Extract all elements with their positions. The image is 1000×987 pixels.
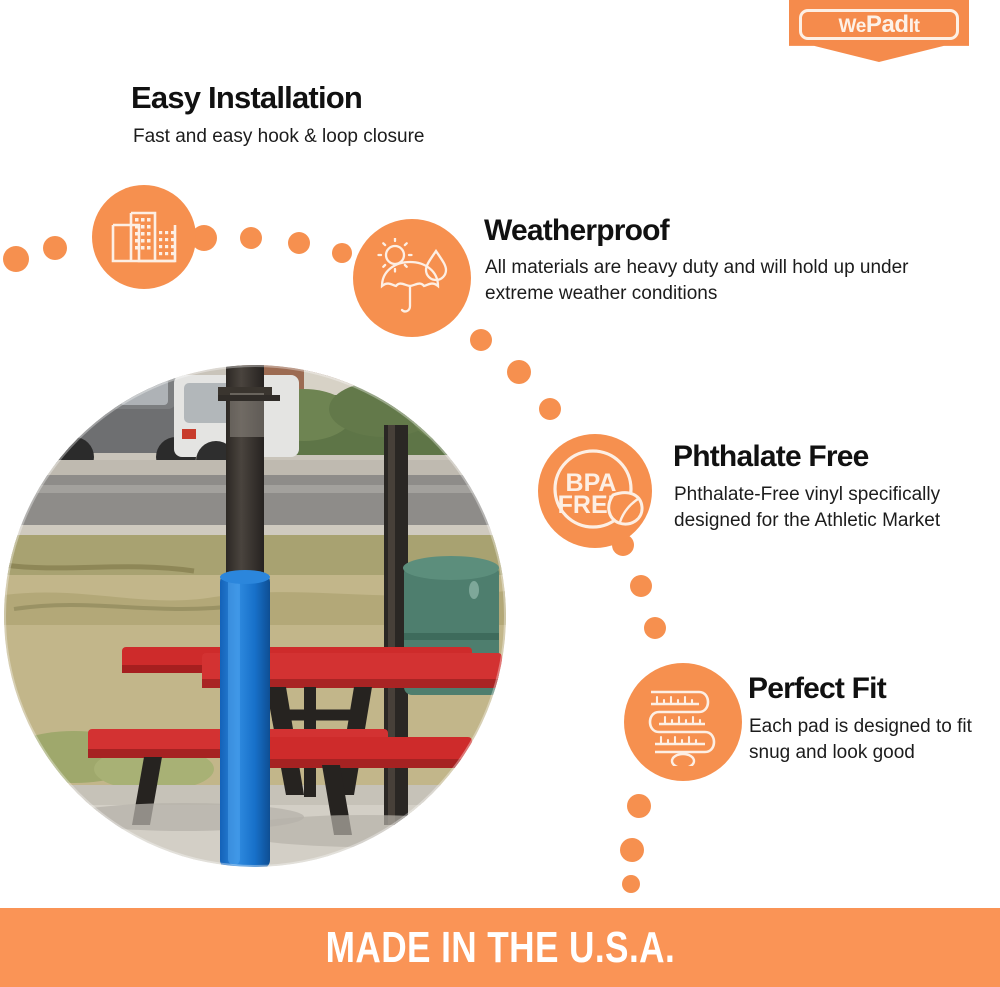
feature-description-perfect-fit: Each pad is designed to fit snug and loo… bbox=[749, 714, 989, 765]
bpa-free-leaf-glyph: BPA FREE bbox=[543, 439, 647, 543]
logo-text-we: We bbox=[839, 16, 866, 37]
trail-dot bbox=[43, 236, 67, 260]
blue-pad-product bbox=[220, 573, 270, 867]
infographic-page: WePadIt Easy Installation Fast and easy … bbox=[0, 0, 1000, 987]
trail-dot bbox=[470, 329, 492, 351]
logo-text-pad: Pad bbox=[866, 11, 909, 38]
measuring-tape-icon bbox=[624, 663, 742, 781]
trail-dot bbox=[332, 243, 352, 263]
trail-dot bbox=[539, 398, 561, 420]
trail-dot bbox=[630, 575, 652, 597]
umbrella-sun-raindrop-icon bbox=[353, 219, 471, 337]
feature-description-weatherproof: All materials are heavy duty and will ho… bbox=[485, 255, 915, 306]
feature-description-phthalate-free: Phthalate-Free vinyl specifically design… bbox=[674, 482, 944, 533]
logo-frame: WePadIt bbox=[799, 9, 959, 40]
trail-dot bbox=[507, 360, 531, 384]
made-in-usa-text: MADE IN THE U.S.A. bbox=[325, 923, 674, 973]
feature-title-perfect-fit: Perfect Fit bbox=[748, 672, 886, 706]
feature-description-easy-installation: Fast and easy hook & loop closure bbox=[133, 124, 553, 150]
trail-dot bbox=[620, 838, 644, 862]
logo-wordmark: WePadIt bbox=[839, 13, 920, 37]
logo-text-it: It bbox=[909, 16, 920, 37]
product-photo-illustration bbox=[4, 365, 506, 867]
feature-title-phthalate-free: Phthalate Free bbox=[673, 440, 869, 474]
trail-dot bbox=[644, 617, 666, 639]
bpa-free-leaf-icon: BPA FREE bbox=[538, 434, 652, 548]
building-icon-glyph bbox=[109, 209, 179, 265]
trail-dot bbox=[3, 246, 29, 272]
umbrella-sun-raindrop-glyph bbox=[370, 238, 454, 318]
feature-title-easy-installation: Easy Installation bbox=[131, 80, 362, 116]
feature-title-weatherproof: Weatherproof bbox=[484, 214, 669, 248]
trail-dot bbox=[627, 794, 651, 818]
trail-dot bbox=[288, 232, 310, 254]
product-photo bbox=[4, 365, 506, 867]
trail-dot bbox=[622, 875, 640, 893]
measuring-tape-glyph bbox=[639, 678, 727, 766]
trail-dot bbox=[240, 227, 262, 249]
brand-logo-badge[interactable]: WePadIt bbox=[789, 0, 969, 62]
building-icon bbox=[92, 185, 196, 289]
made-in-usa-banner: MADE IN THE U.S.A. bbox=[0, 908, 1000, 987]
